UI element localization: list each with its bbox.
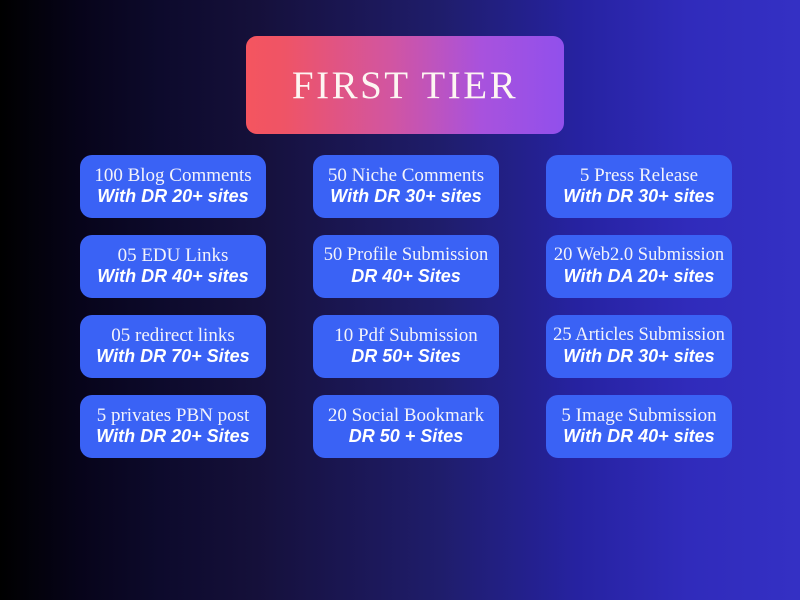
service-card-title: 100 Blog Comments [94,166,251,187]
service-card[interactable]: 25 Articles Submission With DR 30+ sites [546,315,732,378]
service-card-title: 50 Niche Comments [328,166,484,187]
service-card-detail: DR 40+ Sites [351,267,461,287]
service-card-title: 50 Profile Submission [324,246,488,266]
service-card-title: 05 redirect links [111,326,234,347]
service-column-3: 5 Press Release With DR 30+ sites 20 Web… [546,155,732,475]
service-card-detail: DR 50+ Sites [351,347,461,367]
service-card-title: 20 Web2.0 Submission [554,246,724,266]
title-banner: FIRST TIER [246,36,564,134]
service-card-detail: With DR 30+ sites [563,347,714,367]
service-card-title: 5 privates PBN post [97,406,250,427]
service-card-title: 5 Image Submission [561,406,716,427]
service-card-detail: With DA 20+ sites [564,267,715,287]
service-card[interactable]: 20 Social Bookmark DR 50 + Sites [313,395,499,458]
service-card[interactable]: 5 Image Submission With DR 40+ sites [546,395,732,458]
page-title: FIRST TIER [292,63,518,108]
service-card-detail: With DR 70+ Sites [96,347,249,367]
service-card[interactable]: 05 EDU Links With DR 40+ sites [80,235,266,298]
service-card-detail: With DR 20+ Sites [96,427,249,447]
service-card[interactable]: 50 Niche Comments With DR 30+ sites [313,155,499,218]
service-card-title: 10 Pdf Submission [334,326,478,347]
service-card[interactable]: 10 Pdf Submission DR 50+ Sites [313,315,499,378]
poster-canvas: FIRST TIER 100 Blog Comments With DR 20+… [0,0,800,600]
service-card-title: 5 Press Release [580,166,698,187]
service-column-2: 50 Niche Comments With DR 30+ sites 50 P… [313,155,499,475]
service-card-detail: With DR 40+ sites [563,427,714,447]
service-column-1: 100 Blog Comments With DR 20+ sites 05 E… [80,155,266,475]
service-card[interactable]: 100 Blog Comments With DR 20+ sites [80,155,266,218]
service-card[interactable]: 05 redirect links With DR 70+ Sites [80,315,266,378]
service-card[interactable]: 5 privates PBN post With DR 20+ Sites [80,395,266,458]
service-card-grid: 100 Blog Comments With DR 20+ sites 05 E… [0,155,800,475]
service-card-detail: With DR 20+ sites [97,187,248,207]
service-card-detail: DR 50 + Sites [349,427,464,447]
service-card-title: 25 Articles Submission [553,326,725,346]
service-card[interactable]: 50 Profile Submission DR 40+ Sites [313,235,499,298]
service-card-title: 05 EDU Links [118,246,229,267]
service-card-detail: With DR 40+ sites [97,267,248,287]
service-card-detail: With DR 30+ sites [563,187,714,207]
service-card[interactable]: 5 Press Release With DR 30+ sites [546,155,732,218]
service-card-detail: With DR 30+ sites [330,187,481,207]
service-card[interactable]: 20 Web2.0 Submission With DA 20+ sites [546,235,732,298]
service-card-title: 20 Social Bookmark [328,406,484,427]
